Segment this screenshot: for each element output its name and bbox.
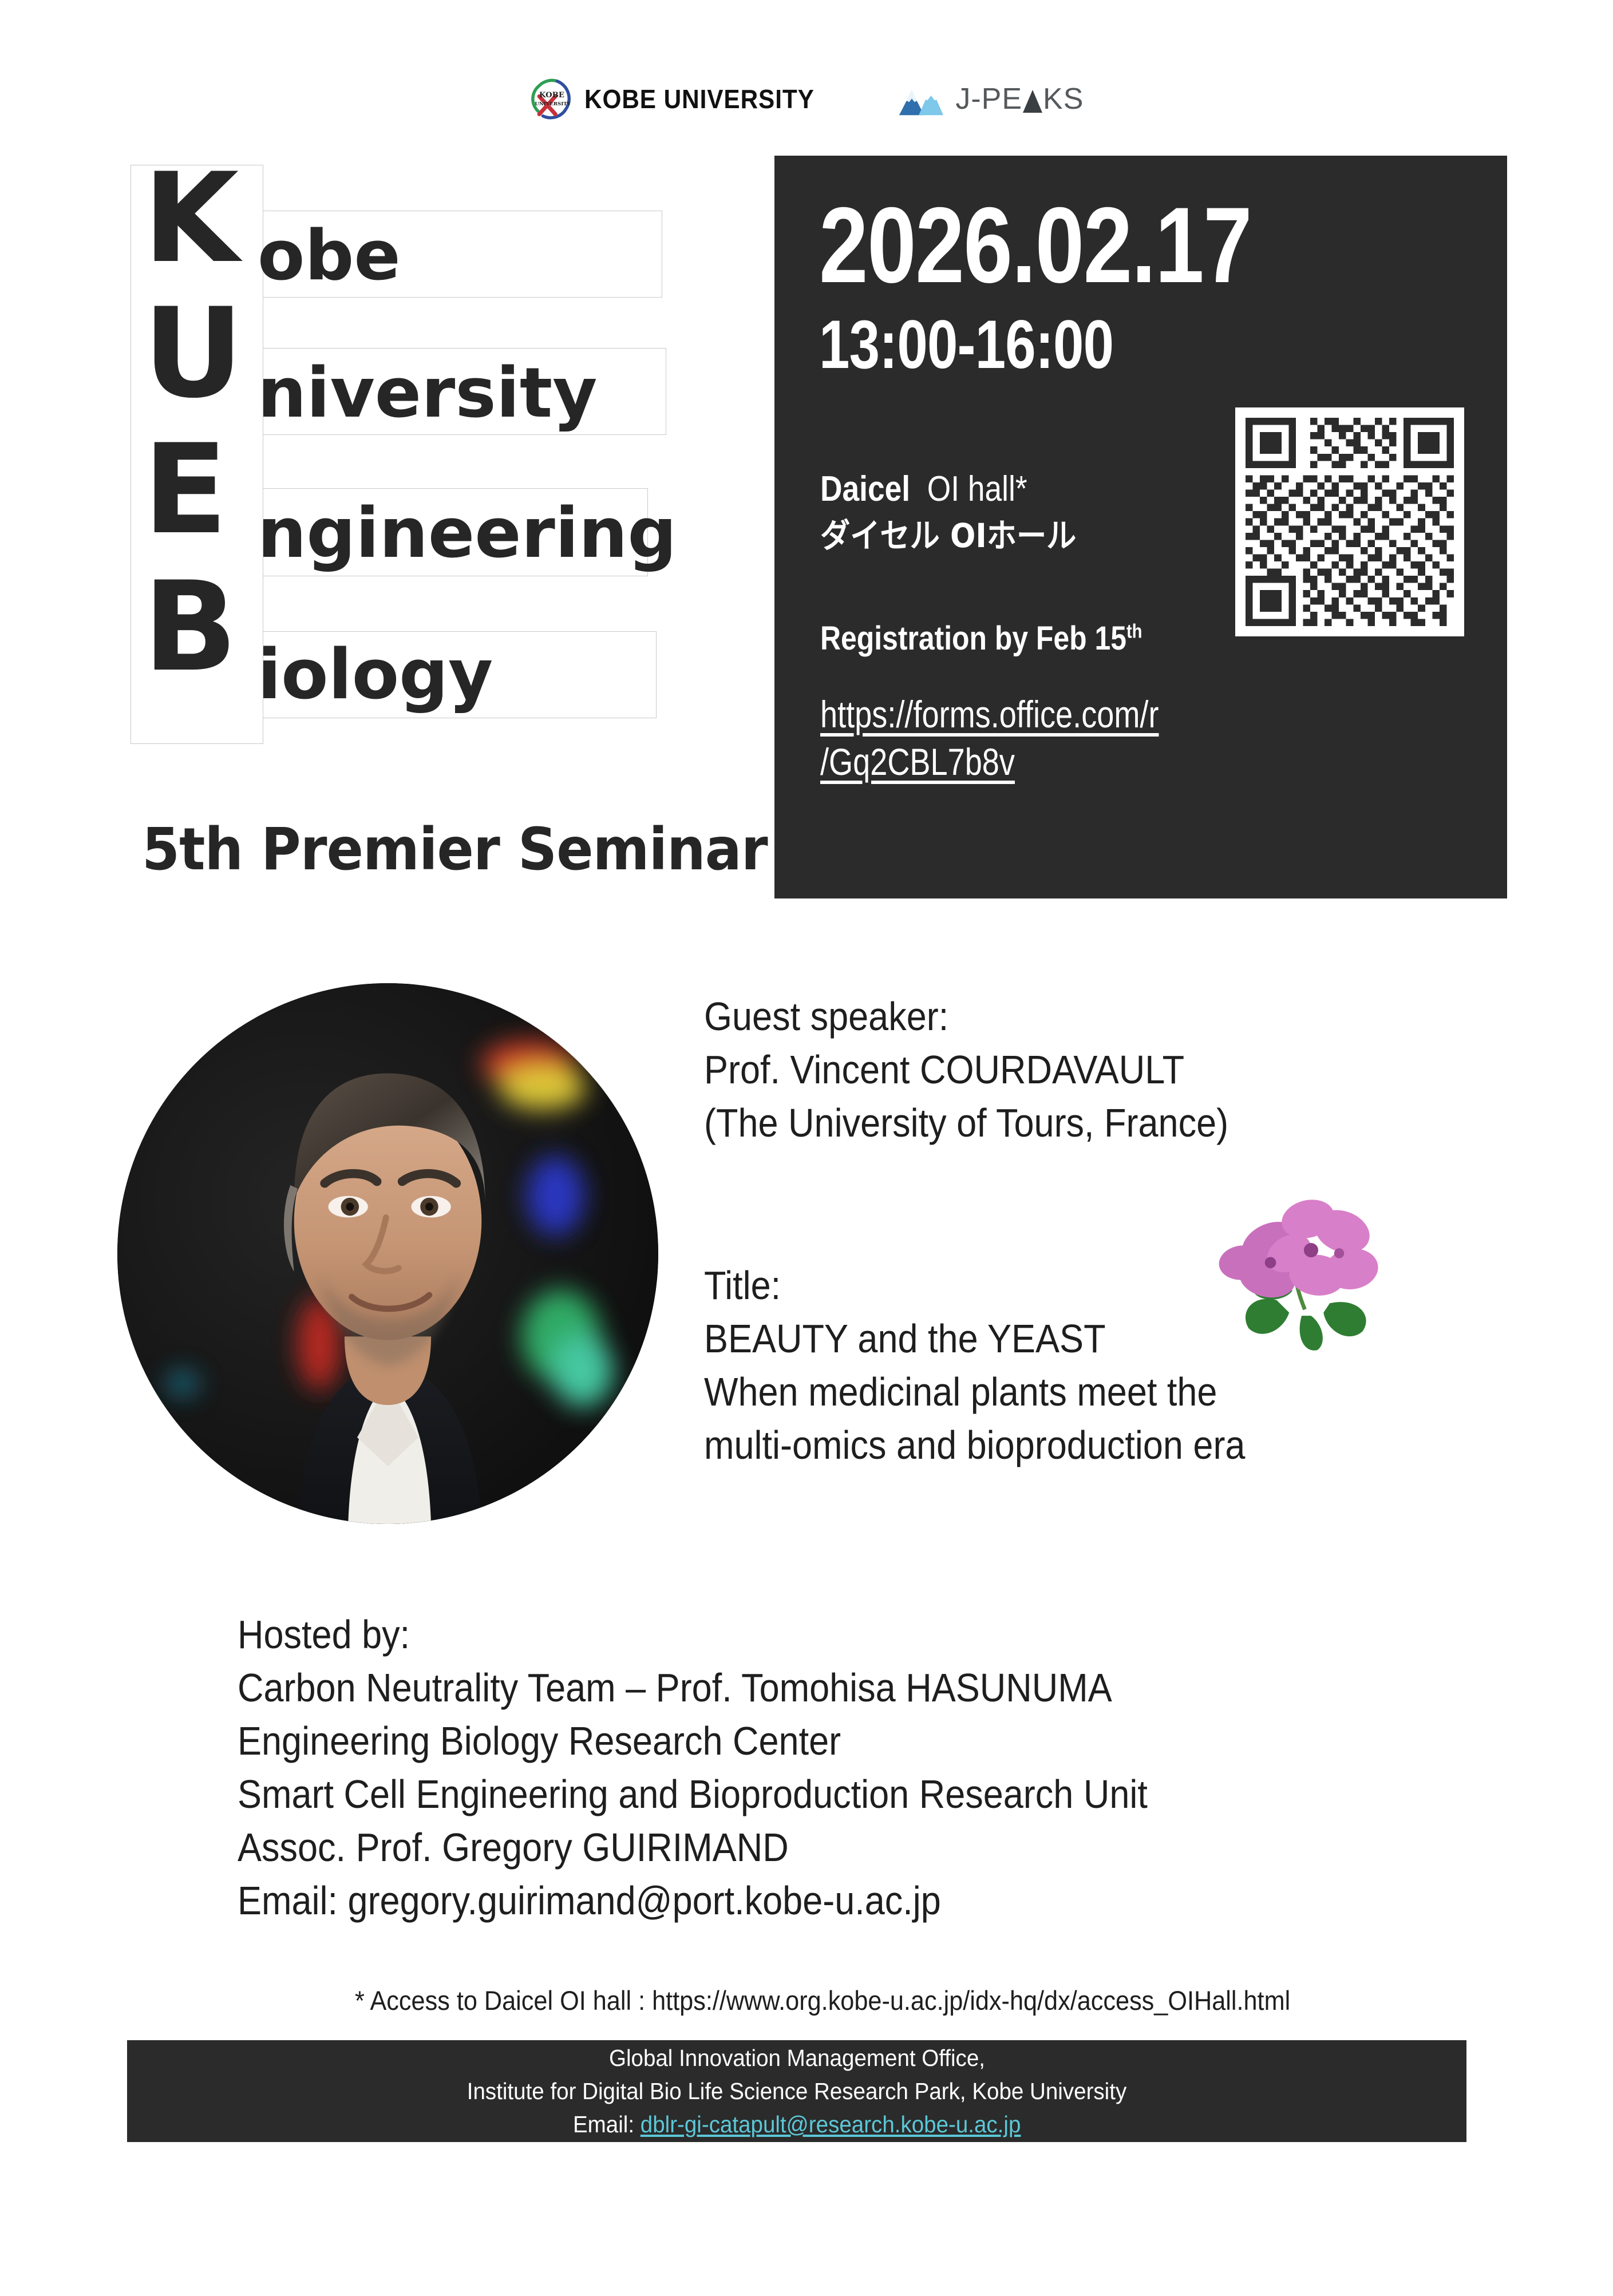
footer-email-row: Email: dblr-gi-catapult@research.kobe-u.… [573,2108,1021,2141]
venue-name-en: Daicel OI hall* [820,468,1065,511]
footer-office-name: Global Innovation Management Office, [608,2041,985,2075]
host-team-line: Carbon Neutrality Team – Prof. Tomohisa … [238,1661,1412,1715]
guest-speaker-block: Guest speaker: Prof. Vincent COURDAVAULT… [704,990,1534,1150]
talk-subtitle-line-1: When medicinal plants meet the [704,1365,1466,1419]
host-contact-email[interactable]: Email: gregory.guirimand@port.kobe-u.ac.… [238,1874,1412,1927]
registration-qr-code[interactable] [1235,407,1464,636]
hosted-by-label: Hosted by: [238,1608,1412,1661]
jpeaks-wordmark-pre: J-PE [955,82,1022,116]
event-time: 13:00-16:00 [819,310,1113,379]
registration-url-line-2: /Gq2CBL7b8v [820,738,1159,786]
seal-top-text: KOBE [539,91,564,100]
kobe-university-seal-icon: KOBE UNIVERSITY [529,77,574,121]
kueb-word-2: ngineering [258,500,677,568]
host-center-line: Engineering Biology Research Center [238,1715,1412,1768]
header-logo-bar: KOBE UNIVERSITY KOBE UNIVERSITY J-PEKS [0,73,1613,125]
kueb-word-3: iology [258,641,493,710]
host-contact-name: Assoc. Prof. Gregory GUIRIMAND [238,1821,1412,1874]
jpeaks-wordmark: J-PEKS [955,82,1084,116]
host-unit-line: Smart Cell Engineering and Bioproduction… [238,1768,1412,1821]
registration-deadline: Registration by Feb 15th [820,619,1142,658]
kobe-university-logo: KOBE UNIVERSITY KOBE UNIVERSITY [529,77,835,121]
hosted-by-block: Hosted by: Carbon Neutrality Team – Prof… [238,1608,1543,1928]
registration-ordinal-suffix: th [1126,621,1142,643]
jpeaks-wordmark-post: KS [1043,82,1084,116]
kueb-capital-3: B [143,565,238,689]
guest-speaker-affiliation: (The University of Tours, France) [704,1096,1451,1150]
venue-brand: Daicel [820,469,910,509]
talk-subtitle-line-2: multi-omics and bioproduction era [704,1419,1466,1472]
seminar-subtitle: 5th Premier Seminar [142,816,768,884]
kueb-capital-2: E [143,428,228,552]
guest-speaker-name: Prof. Vincent COURDAVAULT [704,1043,1451,1096]
jpeaks-logo: J-PEKS [897,79,1084,119]
footer-email-label: Email: [573,2111,641,2137]
kueb-word-0: obe [258,222,401,291]
jpeaks-peak-letter-icon [1023,90,1042,113]
talk-title-block: Title: BEAUTY and the YEAST When medicin… [704,1259,1551,1472]
event-venue: Daicel OI hall* ダイセル OIホール [820,468,1105,557]
speaker-portrait [117,983,658,1524]
registration-url-line-1: https://forms.office.com/r [820,691,1159,738]
kobe-university-wordmark: KOBE UNIVERSITY [584,84,815,114]
kueb-capital-0: K [143,157,239,280]
jpeaks-mountain-icon [897,79,945,119]
registration-url[interactable]: https://forms.office.com/r /Gq2CBL7b8v [820,691,1159,786]
footer-email-link[interactable]: dblr-gi-catapult@research.kobe-u.ac.jp [641,2111,1021,2137]
footer-institute-name: Institute for Digital Bio Life Science R… [467,2075,1126,2108]
footer-band: Global Innovation Management Office, Ins… [127,2040,1466,2142]
guest-speaker-label: Guest speaker: [704,990,1451,1043]
periwinkle-flower-icon [1213,1185,1402,1356]
event-date: 2026.02.17 [819,191,1251,299]
poster-page: KOBE UNIVERSITY KOBE UNIVERSITY J-PEKS [0,0,1613,2296]
kueb-capital-1: U [143,292,243,415]
access-footnote[interactable]: * Access to Daicel OI hall : https://www… [355,1985,1290,2016]
venue-name-jp: ダイセル OIホール [820,514,1076,557]
qr-code-icon [1246,418,1454,626]
kueb-logo: K obe U niversity E ngineering B iology [131,165,709,760]
venue-hall: OI hall* [927,469,1027,509]
registration-deadline-text: Registration by Feb 15 [820,620,1126,657]
kueb-word-1: niversity [258,359,598,428]
speaker-photo-image [117,983,658,1524]
seal-bottom-text: UNIVERSITY [535,101,571,107]
